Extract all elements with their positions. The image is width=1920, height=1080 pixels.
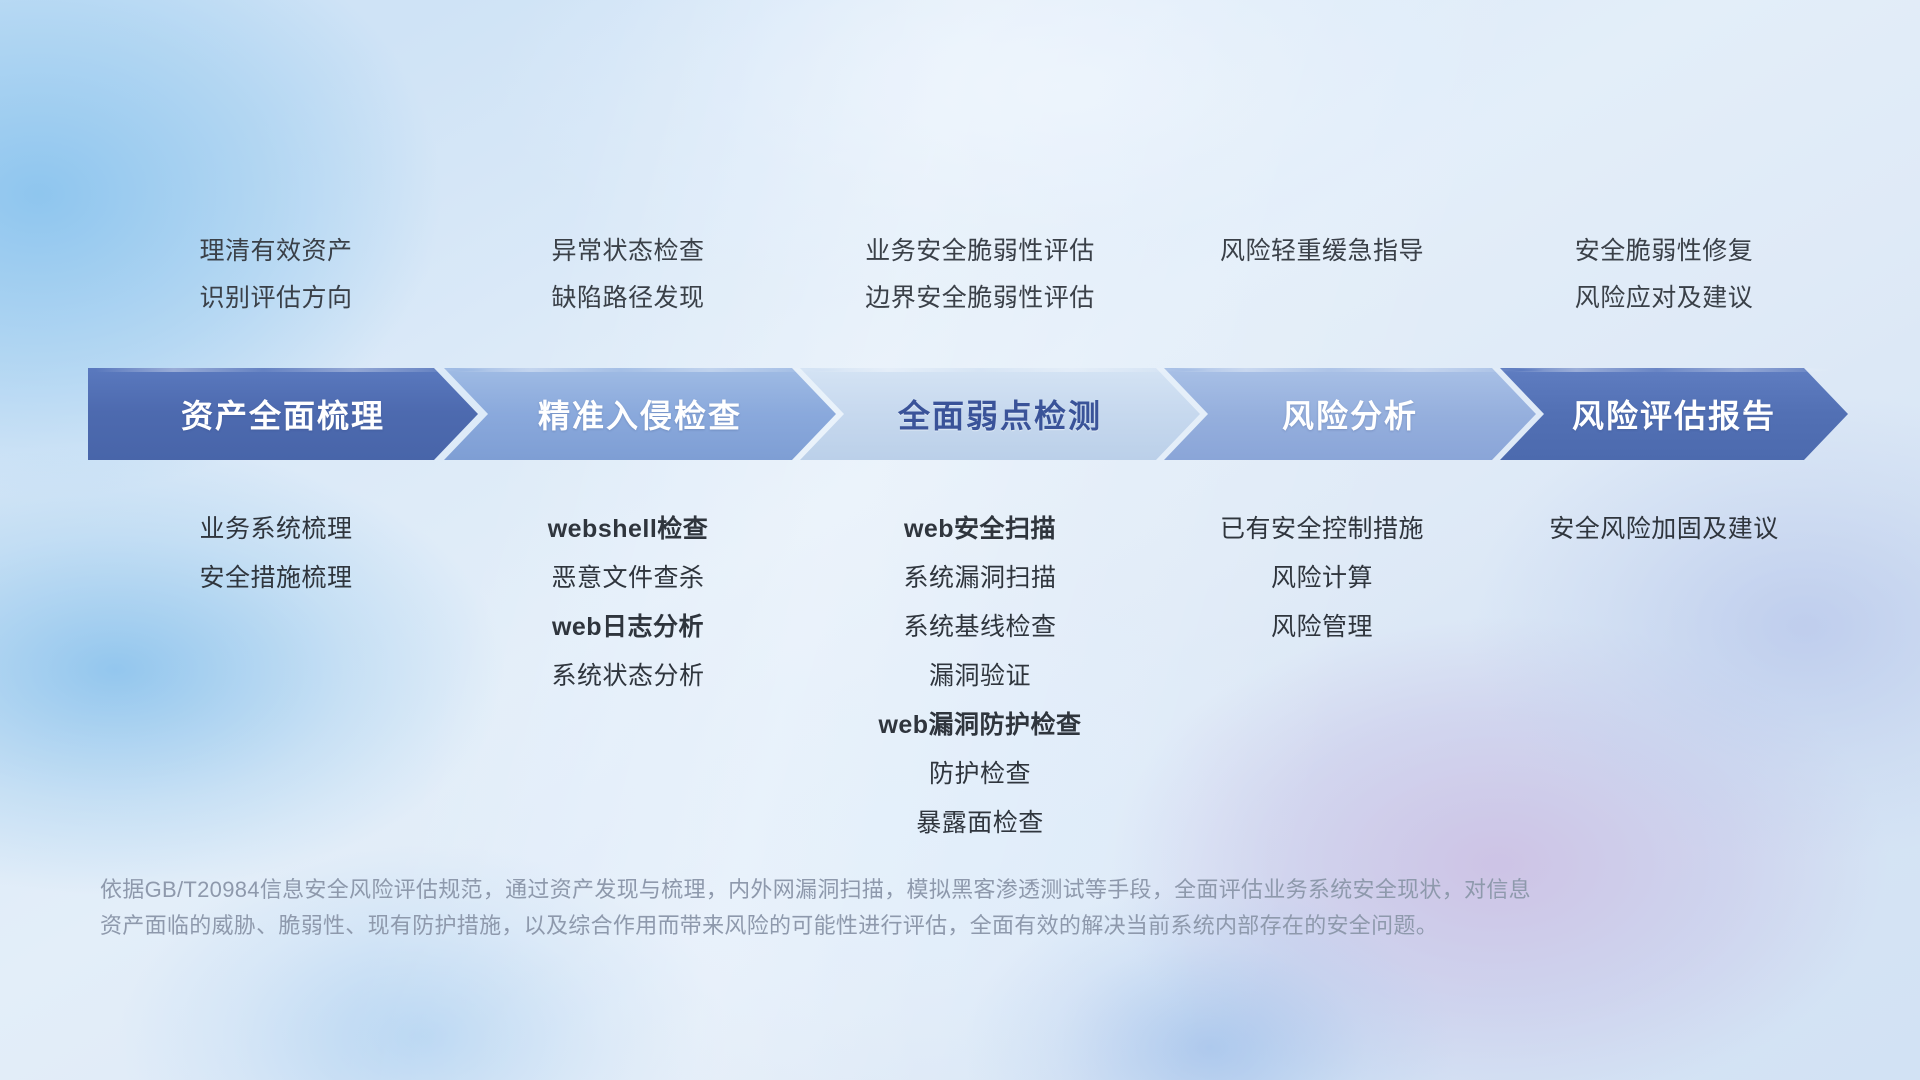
bottom-item: 恶意文件查杀 xyxy=(452,554,804,603)
process-arrow-band: 资产全面梳理 精准入侵检查 全面弱点检测 风险分析 xyxy=(88,368,1848,460)
arrow-highlight xyxy=(88,368,478,372)
stage-arrow-intrusion-check[interactable]: 精准入侵检查 xyxy=(444,368,836,460)
top-caption: 异常状态检查 xyxy=(452,228,804,275)
bottom-item: 已有安全控制措施 xyxy=(1156,505,1488,554)
stage-arrow-asset-inventory[interactable]: 资产全面梳理 xyxy=(88,368,478,460)
bottom-item: web安全扫描 xyxy=(804,505,1156,554)
bottom-items-weakness-detection: web安全扫描 系统漏洞扫描 系统基线检查 漏洞验证 web漏洞防护检查 防护检… xyxy=(804,505,1156,848)
bottom-item: 防护检查 xyxy=(804,750,1156,799)
bottom-item: web漏洞防护检查 xyxy=(804,701,1156,750)
top-captions-weakness-detection: 业务安全脆弱性评估 边界安全脆弱性评估 xyxy=(804,228,1156,322)
top-caption: 缺陷路径发现 xyxy=(452,275,804,322)
bottom-items-risk-analysis: 已有安全控制措施 风险计算 风险管理 xyxy=(1156,505,1488,848)
bottom-item: 系统漏洞扫描 xyxy=(804,554,1156,603)
arrow-highlight xyxy=(1164,368,1536,372)
footer-line: 依据GB/T20984信息安全风险评估规范，通过资产发现与梳理，内外网漏洞扫描，… xyxy=(100,872,1660,908)
top-caption: 业务安全脆弱性评估 xyxy=(804,228,1156,275)
bottom-item: 暴露面检查 xyxy=(804,799,1156,848)
slide-canvas: 理清有效资产 识别评估方向 异常状态检查 缺陷路径发现 业务安全脆弱性评估 边界… xyxy=(0,0,1920,1080)
bottom-item: 系统状态分析 xyxy=(452,652,804,701)
top-caption: 边界安全脆弱性评估 xyxy=(804,275,1156,322)
stage-arrow-label: 资产全面梳理 xyxy=(181,391,385,437)
footer-description: 依据GB/T20984信息安全风险评估规范，通过资产发现与梳理，内外网漏洞扫描，… xyxy=(100,872,1660,944)
bottom-item: 业务系统梳理 xyxy=(100,505,452,554)
arrow-highlight xyxy=(800,368,1200,372)
top-captions-row: 理清有效资产 识别评估方向 异常状态检查 缺陷路径发现 业务安全脆弱性评估 边界… xyxy=(100,228,1840,322)
top-caption: 识别评估方向 xyxy=(100,275,452,322)
footer-line: 资产面临的威胁、脆弱性、现有防护措施，以及综合作用而带来风险的可能性进行评估，全… xyxy=(100,908,1660,944)
bottom-item: 漏洞验证 xyxy=(804,652,1156,701)
top-caption: 风险轻重缓急指导 xyxy=(1156,228,1488,275)
bottom-item: 系统基线检查 xyxy=(804,603,1156,652)
top-caption: 安全脆弱性修复 xyxy=(1488,228,1840,275)
top-captions-asset-inventory: 理清有效资产 识别评估方向 xyxy=(100,228,452,322)
bottom-item: web日志分析 xyxy=(452,603,804,652)
top-captions-intrusion-check: 异常状态检查 缺陷路径发现 xyxy=(452,228,804,322)
stage-arrow-risk-report[interactable]: 风险评估报告 xyxy=(1500,368,1848,460)
bottom-item: 风险管理 xyxy=(1156,603,1488,652)
bottom-captions-row: 业务系统梳理 安全措施梳理 webshell检查 恶意文件查杀 web日志分析 … xyxy=(100,505,1840,848)
bottom-item: 安全措施梳理 xyxy=(100,554,452,603)
bottom-items-intrusion-check: webshell检查 恶意文件查杀 web日志分析 系统状态分析 xyxy=(452,505,804,848)
arrow-highlight xyxy=(1500,368,1848,372)
slide-content: 理清有效资产 识别评估方向 异常状态检查 缺陷路径发现 业务安全脆弱性评估 边界… xyxy=(0,0,1920,1080)
top-captions-risk-report: 安全脆弱性修复 风险应对及建议 xyxy=(1488,228,1840,322)
stage-arrow-label: 全面弱点检测 xyxy=(898,391,1102,437)
stage-arrow-label: 精准入侵检查 xyxy=(538,391,742,437)
stage-arrow-weakness-detection[interactable]: 全面弱点检测 xyxy=(800,368,1200,460)
stage-arrow-risk-analysis[interactable]: 风险分析 xyxy=(1164,368,1536,460)
bottom-items-risk-report: 安全风险加固及建议 xyxy=(1488,505,1840,848)
bottom-item: 风险计算 xyxy=(1156,554,1488,603)
bottom-item: 安全风险加固及建议 xyxy=(1488,505,1840,554)
arrow-highlight xyxy=(444,368,836,372)
bottom-item: webshell检查 xyxy=(452,505,804,554)
stage-arrow-label: 风险评估报告 xyxy=(1572,391,1776,437)
top-caption: 理清有效资产 xyxy=(100,228,452,275)
bottom-items-asset-inventory: 业务系统梳理 安全措施梳理 xyxy=(100,505,452,848)
stage-arrow-label: 风险分析 xyxy=(1282,391,1418,437)
top-captions-risk-analysis: 风险轻重缓急指导 xyxy=(1156,228,1488,322)
top-caption: 风险应对及建议 xyxy=(1488,275,1840,322)
